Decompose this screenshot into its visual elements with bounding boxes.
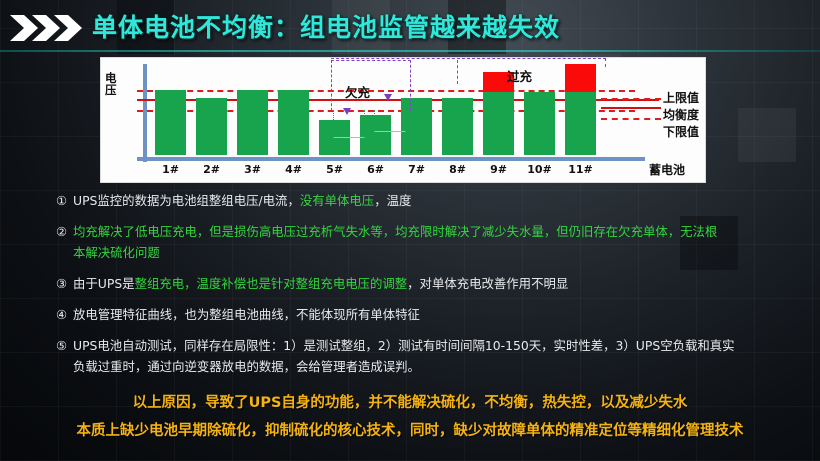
list-item-text-highlight: 均充解决了低电压充电，但是损伤高电压过充析气失水等，均充限时解决了减少失水量，但… <box>73 224 717 239</box>
slide-canvas: 单体电池不均衡：组电池监管越来越失效 电压 欠充 <box>0 0 820 461</box>
chart-x-tick-9: 9# <box>479 163 518 176</box>
chart-plot-area: 欠充 过充 1#2#3#4#5#6#7#8#9#10#11# <box>137 64 625 159</box>
annotation-box-overcharge <box>331 58 606 67</box>
chart-x-tick-3: 3# <box>233 163 272 176</box>
chart-x-tick-4: 4# <box>274 163 313 176</box>
chart-y-axis-label: 电压 <box>105 72 125 96</box>
chart-x-axis <box>137 157 645 161</box>
list-item-text: UPS监控的数据为电池组整组电压/电流， <box>73 193 300 208</box>
chart-y-axis <box>143 64 147 162</box>
annotation-label-overcharge: 过充 <box>507 66 532 85</box>
list-item: ⑤UPS电池自动测试，同样存在局限性：1）是测试整组，2）测试有时间间隔10-1… <box>56 337 735 354</box>
list-item: ③由于UPS是整组充电，温度补偿也是针对整组充电电压的调整，对单体充电改善作用不… <box>56 275 568 292</box>
conclusion-line-2: 本质上缺少电池早期除硫化，抑制硫化的核心技术，同时，缺少对故障单体的精准定位等精… <box>0 419 820 440</box>
chart-bar-overcharge-11 <box>565 64 596 92</box>
annotation-arrow-undercharge-6 <box>384 94 392 101</box>
chart-bar-2 <box>196 98 227 155</box>
list-item-text: ，温度 <box>374 193 411 208</box>
chart-x-tick-7: 7# <box>397 163 436 176</box>
header-divider <box>0 50 820 52</box>
annotation-stem-overcharge-9 <box>457 60 458 84</box>
list-item-text-highlight: 整组充电，温度补偿也是针对整组充电电压的调整 <box>135 276 408 291</box>
list-item-text: 放电管理特征曲线，也为整组电池曲线，不能体现所有单体特征 <box>73 307 420 322</box>
chart-bar-3 <box>237 90 268 155</box>
chart-bar-11 <box>565 92 596 155</box>
triple-chevron-right-icon <box>8 14 86 42</box>
annotation-arrow-undercharge-5 <box>343 108 351 115</box>
chart-bar-8 <box>442 98 473 155</box>
list-item-text: ，对单体充电改善作用不明显 <box>407 276 568 291</box>
list-item-marker: ⑤ <box>56 337 73 354</box>
chart-x-tick-2: 2# <box>192 163 231 176</box>
legend-swatch-balance <box>601 107 661 109</box>
list-item: 本解决硫化问题 <box>56 244 160 261</box>
legend-label-balance: 均衡度 <box>663 106 699 123</box>
legend-label-upper: 上限值 <box>663 89 699 106</box>
chart-x-tick-6: 6# <box>356 163 395 176</box>
chart-bar-4 <box>278 90 309 155</box>
list-item-text-highlight: 没有单体电压 <box>300 193 374 208</box>
list-item: 负载过重时，通过向逆变器放电的数据，会给管理者造成误判。 <box>56 358 420 375</box>
chart-x-axis-label: 蓄电池 <box>649 161 685 178</box>
chart-x-tick-1: 1# <box>151 163 190 176</box>
legend-swatch-lower <box>601 118 661 120</box>
chart-bar-1 <box>155 90 186 155</box>
conclusion-line-1: 以上原因，导致了UPS自身的功能，并不能解决硫化，不均衡，热失控，以及减少失水 <box>0 391 820 412</box>
slide-header: 单体电池不均衡：组电池监管越来越失效 <box>0 0 820 52</box>
list-item-text: UPS电池自动测试，同样存在局限性：1）是测试整组，2）测试有时间间隔10-15… <box>73 338 735 353</box>
battery-balance-chart: 电压 欠充 过充 <box>100 57 706 183</box>
chart-x-tick-8: 8# <box>438 163 477 176</box>
legend-swatch-upper <box>601 98 661 100</box>
annotation-label-undercharge: 欠充 <box>345 82 370 101</box>
list-item-text: 由于UPS是 <box>73 276 135 291</box>
legend-label-lower: 下限值 <box>663 123 699 140</box>
list-item-text: 负载过重时，通过向逆变器放电的数据，会给管理者造成误判。 <box>73 359 420 374</box>
list-item-text-highlight: 本解决硫化问题 <box>73 245 160 260</box>
annotation-box-undercharge <box>331 60 411 111</box>
decor-tile <box>738 108 796 162</box>
page-title: 单体电池不均衡：组电池监管越来越失效 <box>92 8 560 44</box>
undercharge-gap-6 <box>374 110 406 132</box>
list-item: ①UPS监控的数据为电池组整组电压/电流，没有单体电压，温度 <box>56 192 411 209</box>
legend-swatch-xaxis <box>601 157 645 160</box>
chart-x-tick-5: 5# <box>315 163 354 176</box>
chart-bar-10 <box>524 92 555 155</box>
list-item: ④放电管理特征曲线，也为整组电池曲线，不能体现所有单体特征 <box>56 306 420 323</box>
list-item-marker: ③ <box>56 275 73 292</box>
list-item-marker: ② <box>56 223 73 240</box>
chart-x-tick-11: 11# <box>561 163 600 176</box>
chart-x-tick-10: 10# <box>520 163 559 176</box>
chart-bar-9 <box>483 92 514 155</box>
list-item-marker: ④ <box>56 306 73 323</box>
list-item-marker: ① <box>56 192 73 209</box>
list-item: ②均充解决了低电压充电，但是损伤高电压过充析气失水等，均充限时解决了减少失水量，… <box>56 223 717 240</box>
